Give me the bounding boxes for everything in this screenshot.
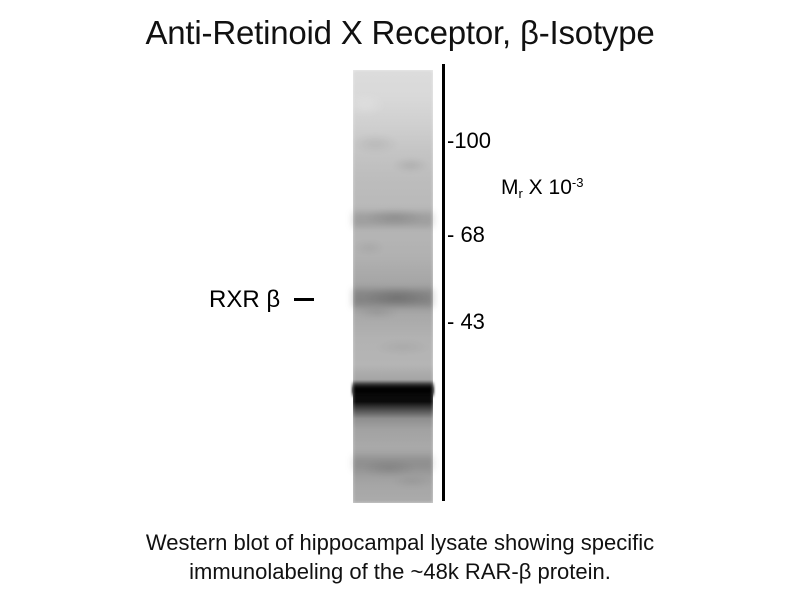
western-blot-figure: Anti-Retinoid X Receptor, β-Isotype -100…: [0, 0, 800, 600]
molecular-weight-axis: [442, 64, 445, 501]
axis-unit-multiplier: X 10: [523, 176, 572, 199]
figure-caption: Western blot of hippocampal lysate showi…: [0, 528, 800, 586]
caption-line-1: Western blot of hippocampal lysate showi…: [0, 528, 800, 557]
band-callout-text: RXR β: [209, 286, 280, 313]
page-title: Anti-Retinoid X Receptor, β-Isotype: [0, 14, 800, 52]
band-callout-rxr-beta: RXR β: [209, 288, 314, 312]
membrane-background: [353, 70, 433, 503]
axis-unit-exponent: -3: [572, 175, 584, 190]
caption-line-2: immunolabeling of the ~48k RAR-β protein…: [0, 557, 800, 586]
blot-lane: [353, 70, 433, 503]
marker-label-68: - 68: [447, 224, 485, 246]
marker-label-43: - 43: [447, 311, 485, 333]
pointer-dash-icon: [294, 298, 314, 301]
axis-unit-label: Mr X 10-3: [501, 172, 583, 204]
marker-label-100: -100: [447, 130, 491, 152]
axis-unit-mr: M: [501, 176, 519, 199]
